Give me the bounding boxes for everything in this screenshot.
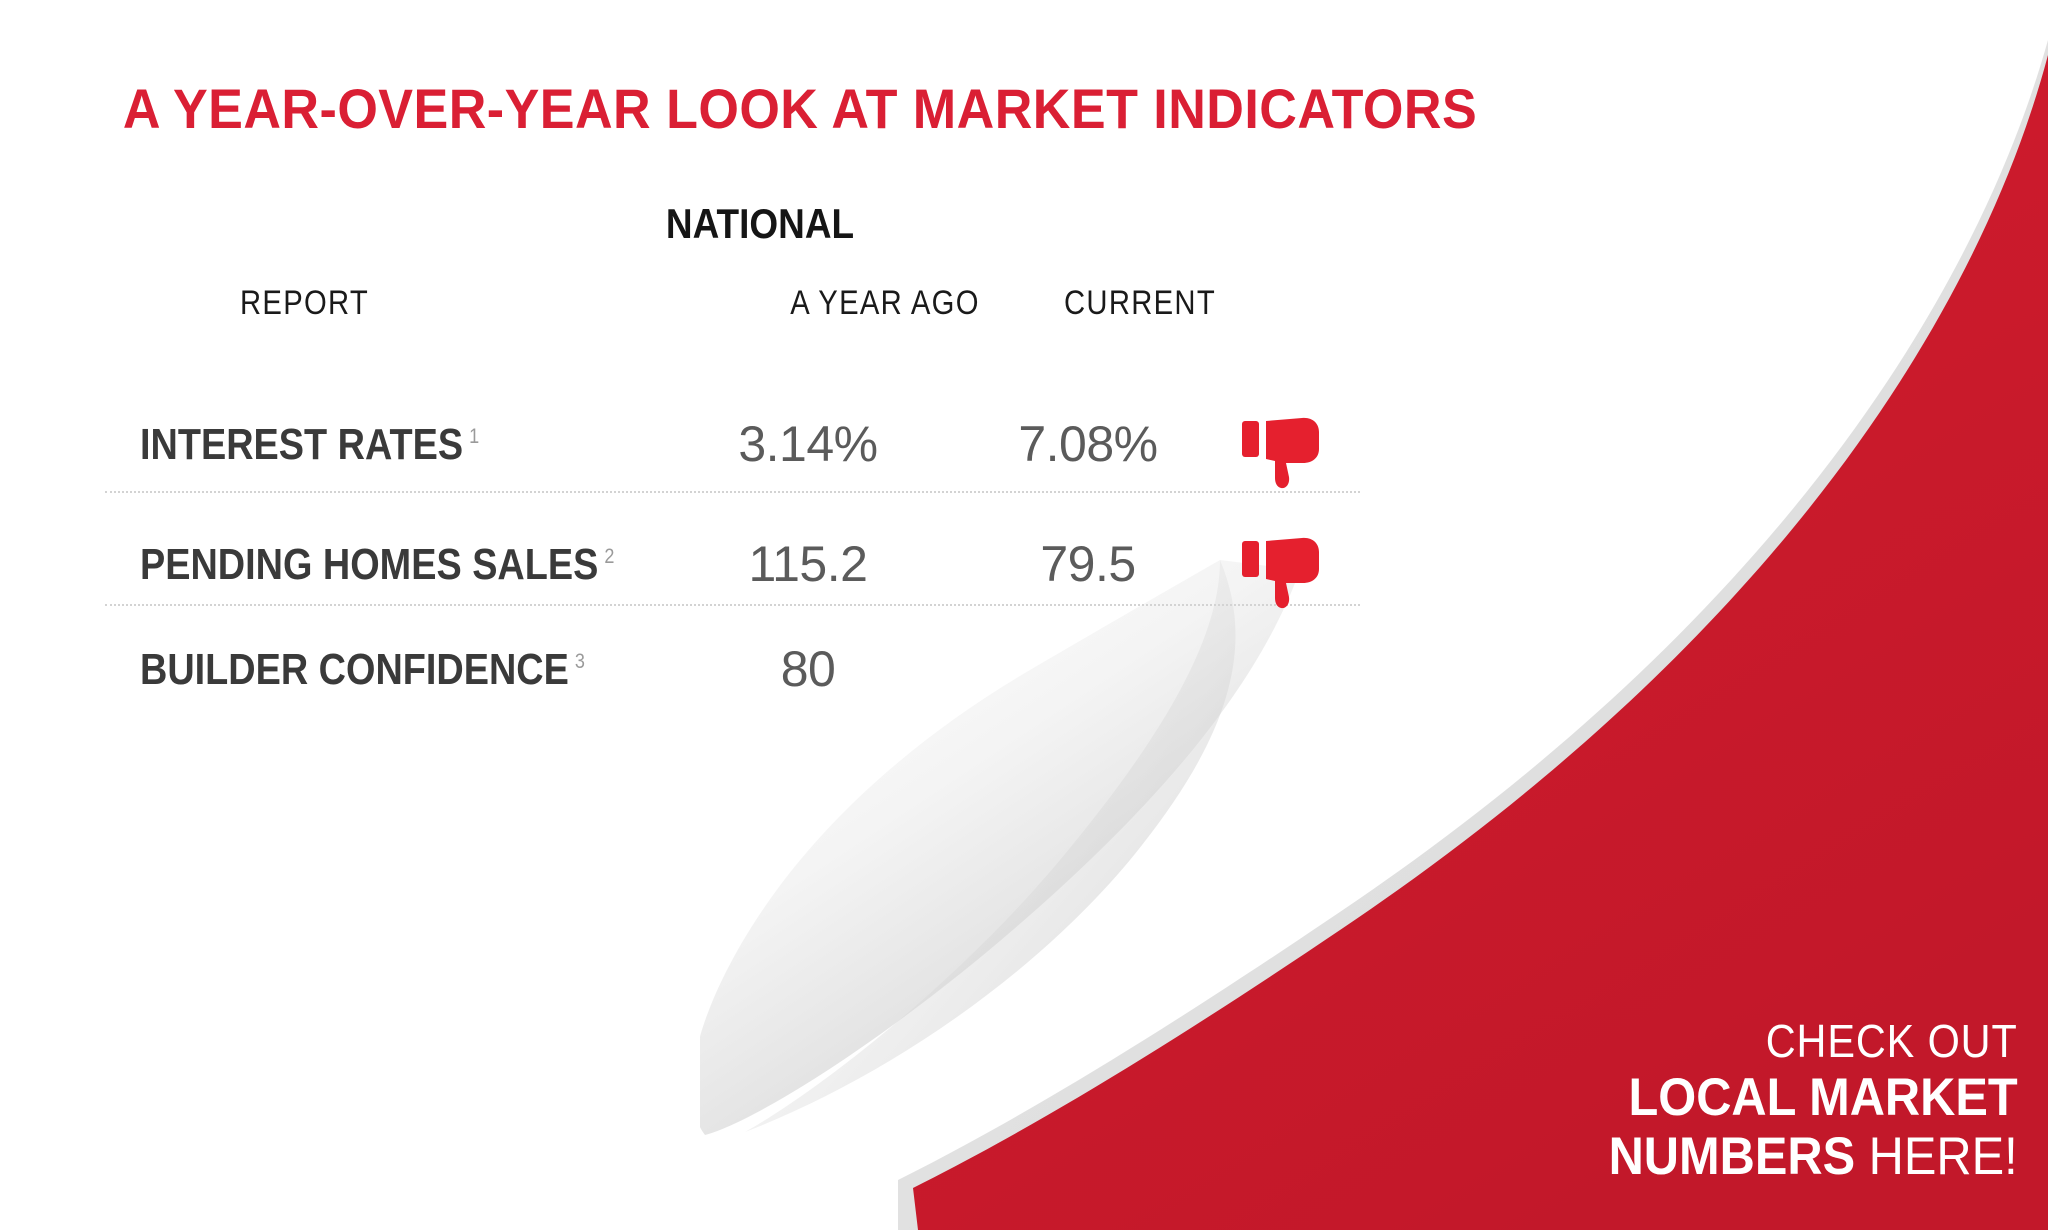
table-row: BUILDER CONFIDENCE3 80 xyxy=(0,630,2048,750)
cell-a-year-ago: 115.2 xyxy=(658,535,958,593)
row-label: PENDING HOMES SALES2 xyxy=(140,540,614,590)
cell-a-year-ago: 3.14% xyxy=(658,415,958,473)
cta-line-1: CHECK OUT xyxy=(1618,1018,2018,1066)
column-header-report: REPORT xyxy=(240,284,369,323)
row-footnote-marker: 2 xyxy=(604,545,614,568)
thumbs-down-icon xyxy=(1240,415,1330,490)
market-indicators-slide: A YEAR-OVER-YEAR LOOK AT MARKET INDICATO… xyxy=(0,0,2048,1230)
thumbs-down-icon xyxy=(1240,535,1330,610)
cta-line-2: LOCAL MARKET xyxy=(1609,1070,2018,1125)
column-header-current: CURRENT xyxy=(1024,284,1256,323)
cta-line-3-light: HERE! xyxy=(1869,1127,2018,1186)
row-label-text: INTEREST RATES xyxy=(140,420,463,469)
row-footnote-marker: 1 xyxy=(469,425,479,448)
section-label-national: NATIONAL xyxy=(584,200,936,248)
row-label-text: PENDING HOMES SALES xyxy=(140,540,598,589)
cell-a-year-ago: 80 xyxy=(658,640,958,698)
call-to-action[interactable]: CHECK OUT LOCAL MARKET NUMBERS HERE! xyxy=(1573,1018,2018,1184)
row-label: BUILDER CONFIDENCE3 xyxy=(140,645,585,695)
row-label: INTEREST RATES1 xyxy=(140,420,479,470)
column-header-a-year-ago: A YEAR AGO xyxy=(756,284,1014,323)
cell-current: 79.5 xyxy=(938,535,1238,593)
table-row: INTEREST RATES1 3.14% 7.08% xyxy=(0,405,2048,525)
row-footnote-marker: 3 xyxy=(575,650,585,673)
cta-line-3-bold: NUMBERS xyxy=(1609,1127,1856,1186)
row-label-text: BUILDER CONFIDENCE xyxy=(140,645,569,694)
cta-line-3: NUMBERS HERE! xyxy=(1609,1129,2018,1184)
cell-current: 7.08% xyxy=(938,415,1238,473)
table-row: PENDING HOMES SALES2 115.2 79.5 xyxy=(0,525,2048,645)
page-title: A YEAR-OVER-YEAR LOOK AT MARKET INDICATO… xyxy=(56,76,1544,141)
